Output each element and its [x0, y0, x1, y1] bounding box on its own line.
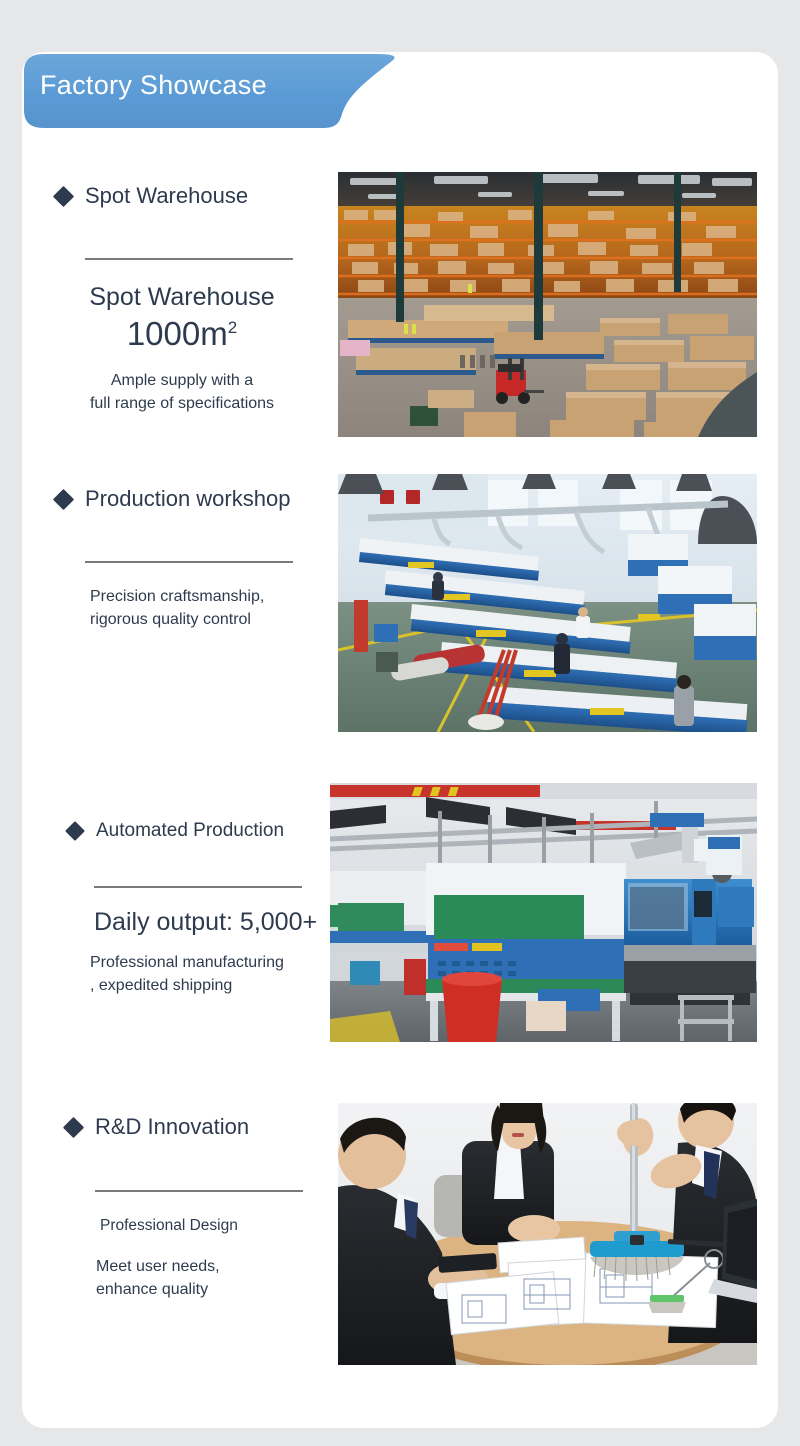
section-heading-production-workshop: Production workshop — [56, 486, 312, 512]
page-title: Factory Showcase — [40, 70, 267, 101]
section-heading-rd-innovation: R&D Innovation — [66, 1114, 328, 1140]
description-line-1: Ample supply with a — [56, 369, 308, 392]
automated-production-photo — [330, 783, 757, 1042]
section-rd-innovation: R&D Innovation Professional Design Meet … — [66, 1114, 328, 1302]
section-description: Professional manufacturing , expedited s… — [90, 951, 330, 997]
page-header-banner: Factory Showcase — [22, 52, 422, 132]
description-line-2: full range of specifications — [56, 392, 308, 415]
description-line-2: rigorous quality control — [90, 608, 312, 631]
highlight-number-unit: 2 — [228, 318, 237, 337]
highlight-line: Spot Warehouse — [56, 283, 308, 312]
highlight-number-value: 1000m — [127, 315, 228, 352]
description-line-1: Precision craftsmanship, — [90, 585, 312, 608]
description-line-2: enhance quality — [96, 1278, 328, 1301]
section-divider — [85, 561, 293, 563]
highlight-line: Professional Design — [100, 1214, 328, 1237]
section-heading-label: Automated Production — [96, 820, 284, 842]
diamond-icon — [63, 1116, 84, 1137]
section-description: Meet user needs, enhance quality — [96, 1255, 328, 1301]
section-divider — [85, 258, 293, 260]
section-heading-spot-warehouse: Spot Warehouse — [56, 183, 308, 209]
section-heading-label: Production workshop — [85, 486, 290, 512]
section-description: Ample supply with a full range of specif… — [56, 369, 308, 415]
description-line-1: Professional manufacturing — [90, 951, 330, 974]
section-automated-production: Automated Production Daily output: 5,000… — [68, 820, 330, 997]
warehouse-photo — [338, 172, 757, 437]
rd-innovation-photo — [338, 1103, 757, 1365]
section-heading-label: R&D Innovation — [95, 1114, 249, 1140]
diamond-icon — [53, 185, 74, 206]
section-heading-label: Spot Warehouse — [85, 183, 248, 209]
production-workshop-photo — [338, 474, 757, 732]
section-divider — [94, 886, 302, 888]
diamond-icon — [65, 821, 85, 841]
section-spot-warehouse: Spot Warehouse Spot Warehouse 1000m2 Amp… — [56, 183, 308, 415]
section-production-workshop: Production workshop Precision craftsmans… — [56, 486, 312, 631]
section-divider — [95, 1190, 303, 1192]
highlight-line: Daily output: 5,000+ — [94, 908, 330, 937]
section-heading-automated-production: Automated Production — [68, 820, 330, 842]
section-description: Precision craftsmanship, rigorous qualit… — [90, 585, 312, 631]
highlight-number: 1000m2 — [56, 315, 308, 353]
description-line-2: , expedited shipping — [90, 974, 330, 997]
description-line-1: Meet user needs, — [96, 1255, 328, 1278]
diamond-icon — [53, 488, 74, 509]
